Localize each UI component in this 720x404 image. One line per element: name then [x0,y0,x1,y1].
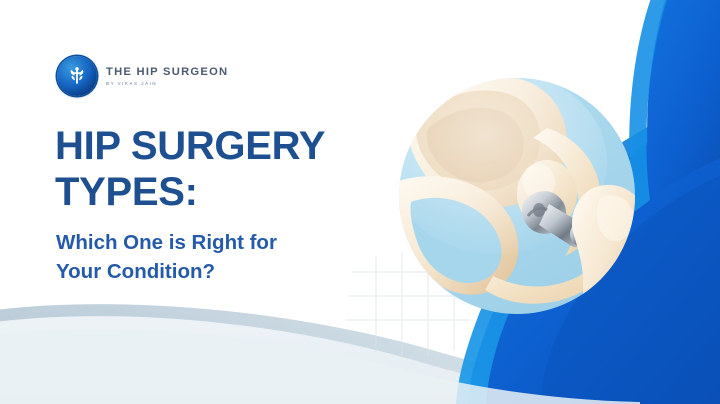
logo-tagline: BY VIKAS JAIN [106,81,228,87]
logo-text-group: THE HIP SURGEON BY VIKAS JAIN [106,65,228,87]
headline-line-2: TYPES: [55,170,325,216]
subhead-line-1: Which One is Right for [56,231,277,254]
page-title: HIP SURGERY TYPES: [55,124,325,215]
hip-surgery-promo-banner: THE HIP SURGEON BY VIKAS JAIN HIP SURGER… [0,0,720,404]
page-subtitle: Which One is Right for Your Condition? [56,228,277,286]
subhead-line-2: Your Condition? [56,257,277,286]
hip-anatomy-illustration [397,76,637,316]
hip-joint-svg [397,76,637,316]
logo-badge [57,56,97,96]
headline-line-1: HIP SURGERY [55,124,325,168]
brand-logo[interactable]: THE HIP SURGEON BY VIKAS JAIN [57,56,228,96]
caduceus-medical-icon [65,64,89,88]
logo-name: THE HIP SURGEON [106,66,228,78]
